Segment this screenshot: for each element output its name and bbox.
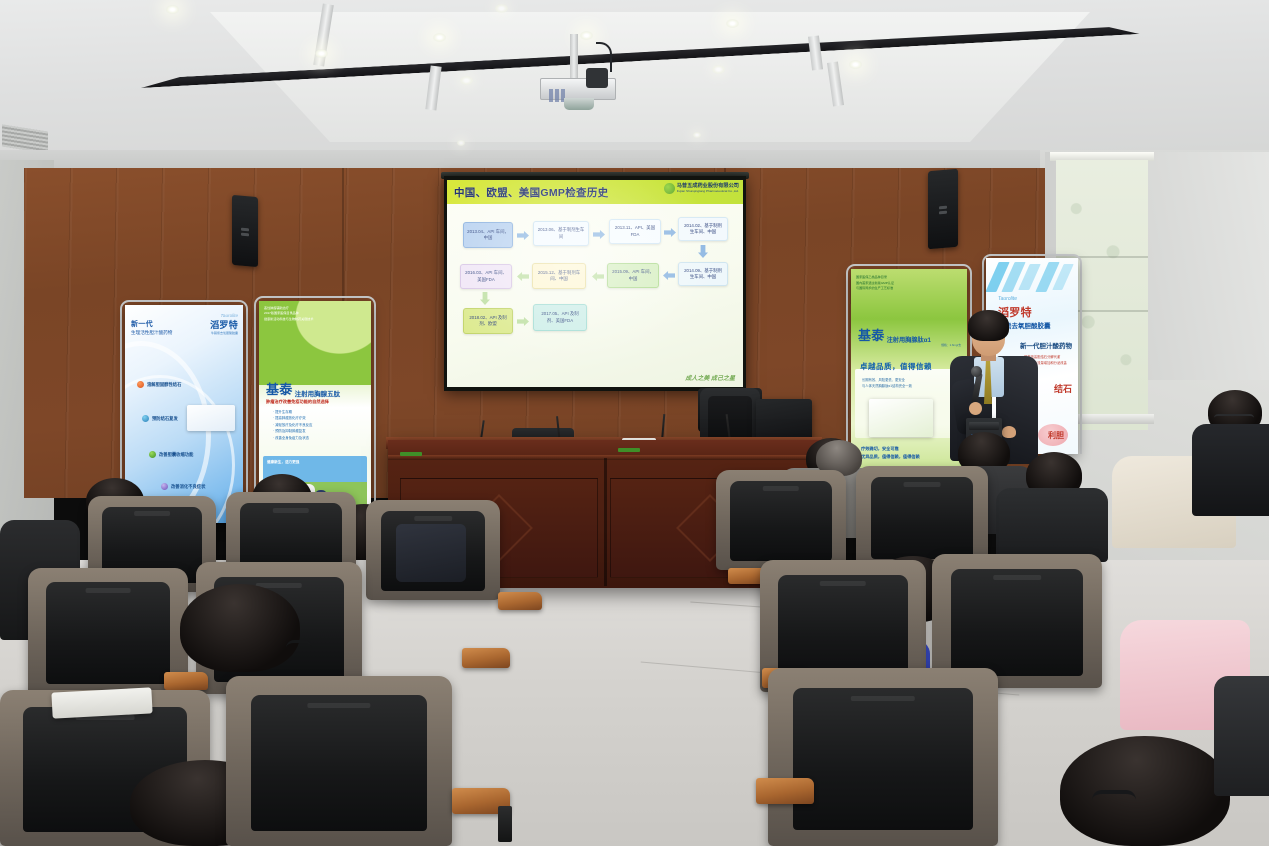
presenter-hand [1002,426,1016,438]
projector-cable [596,42,612,72]
flow-box: 2015.09、API 车间，中国 [607,263,659,288]
seat-armrest [462,648,510,668]
logo-company-en: Fujian Shunqingtang Pharmaceutical Co.,L… [677,190,739,193]
downlight [849,60,862,69]
flow-box: 2016.03、API 车间、美国FDA [460,264,512,289]
banner4-brand-en: Taurolite [998,296,1017,302]
flow-box: 2013.11、API、美国FDA [609,219,661,244]
banner3-brand: 基泰 [858,325,885,344]
banner3-top-text: 国家医保乙类品种目录国内首家通过新版GMP认证与国际同步的生产工艺标准 [856,275,894,292]
banner2-headline: 肿瘤治疗改善免疫功能的自然选择 [266,399,329,405]
microphone-head-icon [971,366,982,377]
backpack [396,524,466,582]
product-box-image [187,405,235,431]
wall-speaker [232,195,258,267]
downlight [460,76,473,85]
downlight [166,5,179,14]
banner3-headline: 卓越品质，值得信赖 [860,361,932,372]
banner4-accent-stone: 结石 [1054,382,1072,395]
banner2-brand: 基泰 [266,379,293,398]
ceiling [0,0,1269,172]
banner2-top-text: 恶性肿瘤辅助治疗2017版国家医保目录品种健康新活动科技与生物制药关键技术 [264,306,314,322]
flow-box: 2013.06、基于制剂生车间 [533,221,589,246]
banner3-product: 注射用胸腺肽α1 [887,335,931,344]
projector-mount [570,34,578,78]
slide-title-bar: 中国、欧盟、美国GMP检查历史 马普五成药业股份有限公司 Fujian Shun… [447,180,743,204]
wall-speaker [928,169,958,250]
banner3-features: 疗效确切，安全可靠优异品质，值得信赖，值得信赖 [861,445,920,460]
flow-arrow-right [517,231,529,240]
audience-body [996,488,1108,562]
audience-body-suit [1192,424,1269,516]
flow-arrow-right [593,230,605,239]
banner2-tagline: 健康新生，活力更强 [267,460,299,465]
flow-arrow-down [698,245,708,258]
banner2-bullets: · 提升生存期· 提高肿瘤放化疗疗效· 减轻放疗及化疗不良反应· 预防及抑制肿瘤… [273,409,312,441]
downlight [712,65,725,74]
banner1-bullet: 改善消化不良症状 [171,484,205,490]
seat-armrest [498,592,542,610]
eyeglasses-icon [1092,790,1136,806]
banner1-bullet: 预防结石复发 [152,416,178,422]
audience-head [180,584,300,672]
flow-box: 2018.02、API 及制剂、欧盟 [463,308,513,334]
banner1-brand-tagline: 牛磺熊去氧胆酸胶囊 [210,331,238,335]
projector-lens [564,98,594,110]
flow-box: 2014.09、基于制剂生车间、中国 [678,262,728,286]
podium-label [400,452,422,456]
podium-seam [604,458,607,586]
seat-armrest [164,672,208,690]
eyeglasses-icon [286,640,312,652]
downlight [580,31,593,40]
presenter-hair [968,310,1009,341]
seat-leg [498,806,512,842]
flow-arrow-left [592,272,604,281]
banner1-subhead: 生理活性胆汁酸药物 [131,330,172,336]
flow-arrow-left [517,272,529,281]
flow-arrow-right [517,317,529,326]
audience-body [1214,676,1269,796]
banner3-product-image [869,399,933,437]
bullet-icon [161,483,168,490]
company-logo: 马普五成药业股份有限公司 Fujian Shunqingtang Pharmac… [664,183,739,194]
handout-paper [51,687,152,718]
banner1-headline: 新一代 [131,319,172,329]
downlight [726,19,739,28]
seat-armrest [756,778,814,804]
flow-box: 2017.05、API 及制剂、美国FDA [533,304,587,331]
slide-title: 中国、欧盟、美国GMP检查历史 [454,185,608,200]
flow-arrow-left [663,271,675,280]
conference-room-scene: 中国、欧盟、美国GMP检查历史 马普五成药业股份有限公司 Fujian Shun… [0,0,1269,846]
audience-head [1060,736,1230,846]
flow-box: 2015.12、基于制剂车间、中国 [532,263,586,289]
bullet-icon [137,381,144,388]
podium-label [618,448,640,452]
ceiling-projector [540,72,616,106]
flow-box: 2014.02、基于制剂生车间、中国 [678,217,728,241]
flow-box: 2013.04、API 车间，中国 [463,222,513,248]
bullet-icon [142,415,149,422]
downlight [315,49,328,58]
theatre-seat [226,676,452,846]
banner3-subline: 长期有效、风险更低、更安全与人体天然胸腺肽α1结构完全一致 [862,377,912,390]
downlight [693,132,701,138]
theatre-seat [768,668,998,846]
banner2-product: 注射用胸腺五肽 [295,388,341,398]
banner1-bullet: 改善胆囊收缩功能 [159,452,193,458]
logo-mark-icon [664,183,675,194]
banner1-brand-cn: 滔罗特 [210,318,238,331]
downlight [457,140,465,146]
banner1-bullet: 溶解胆固醇性结石 [147,382,181,388]
gmp-inspection-flowchart: 2013.04、API 车间，中国 2013.06、基于制剂生车间 2013.1… [447,204,743,387]
projected-slide: 中国、欧盟、美国GMP检查历史 马普五成药业股份有限公司 Fujian Shun… [447,180,743,387]
bullet-icon [149,451,156,458]
flow-arrow-down [480,292,490,305]
presenter-hand [969,402,982,415]
flow-arrow-right [664,228,676,237]
banner-taurolite-left: 新一代 生理活性胆汁酸药物 Taurolite 滔罗特 牛磺熊去氧胆酸胶囊 溶解… [125,305,243,523]
theatre-seat [716,470,846,570]
banner4-accent-word: 利胆 [1048,430,1064,441]
slide-footer-motto: 成人之美 成己之星 [685,373,735,382]
downlight [433,33,446,42]
theatre-seat [856,466,988,568]
downlight [495,4,508,13]
eyeglasses-icon [1214,414,1254,422]
